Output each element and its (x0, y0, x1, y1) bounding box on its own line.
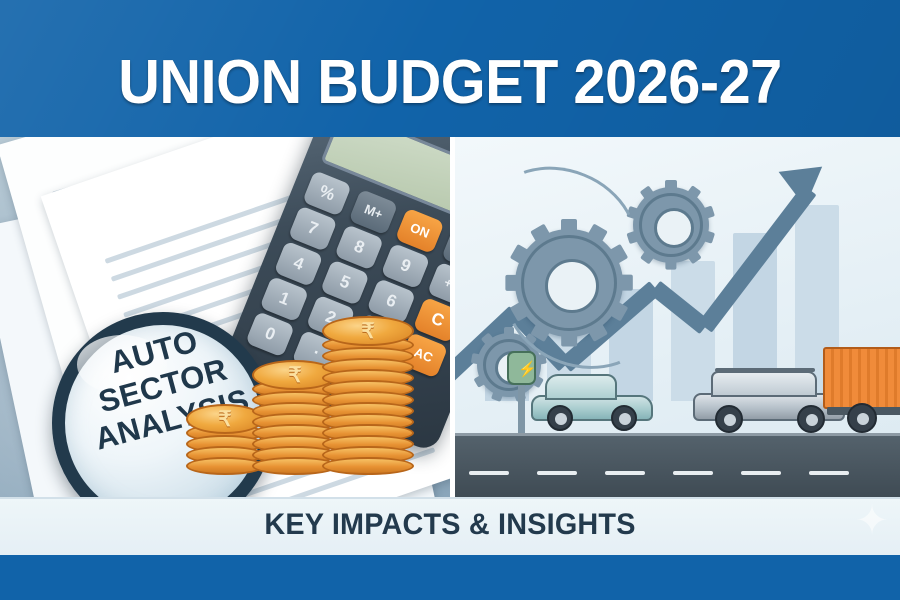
suv-cabin (711, 371, 817, 397)
page-subtitle: KEY IMPACTS & INSIGHTS (18, 507, 882, 543)
delivery-truck (823, 341, 900, 433)
coin-stack-3: ₹ (322, 313, 414, 475)
road-kerb (455, 433, 900, 436)
truck-rear-wheel (847, 403, 877, 433)
rupee-coin-top: ₹ (322, 316, 414, 346)
road-dash (605, 471, 645, 475)
suv-rear-wheel (797, 405, 825, 433)
road-dash (469, 471, 509, 475)
right-illustration-panel: ⚡ (455, 137, 900, 497)
gear-icon (633, 187, 709, 263)
footer-bottom-bar (0, 555, 900, 600)
ev-cabin (545, 374, 617, 400)
page-title: UNION BUDGET 2026-27 (32, 52, 869, 114)
poster-footer: KEY IMPACTS & INSIGHTS (0, 497, 900, 555)
coin (322, 457, 414, 475)
road-dash (673, 471, 713, 475)
poster-header: UNION BUDGET 2026-27 (0, 0, 900, 137)
left-illustration-panel: %M+ON÷789+/-456C123AC0· AUTO SECTOR ANAL… (0, 137, 450, 497)
road-dash (809, 471, 849, 475)
union-budget-poster: UNION BUDGET 2026-27 %M+ON÷789+/-456C123… (0, 0, 900, 600)
road-dash (741, 471, 781, 475)
illustration-panels: %M+ON÷789+/-456C123AC0· AUTO SECTOR ANAL… (0, 137, 900, 497)
ev-hatchback (531, 371, 653, 433)
road-dash (537, 471, 577, 475)
suv-front-wheel (715, 405, 743, 433)
ev-rear-wheel (611, 405, 637, 431)
truck-cargo-box (823, 347, 900, 409)
road (455, 433, 900, 497)
footer-top-border (0, 497, 900, 499)
sparkle-icon: ✦ (855, 498, 889, 544)
ev-front-wheel (547, 405, 573, 431)
